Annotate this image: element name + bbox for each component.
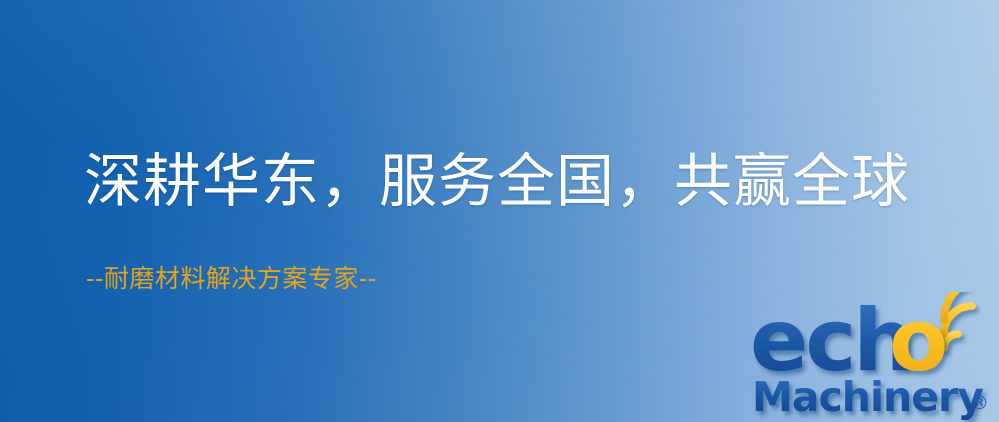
echo-machinery-logo[interactable]: ech o Machinery ® [748,292,999,422]
page-title: 深耕华东，服务全国，共赢全球 [84,152,910,210]
signal-arcs-icon [944,292,986,348]
page-subtitle: --耐磨材料解决方案专家-- [86,266,377,291]
registered-trademark-icon: ® [970,392,989,414]
hero-banner: 深耕华东，服务全国，共赢全球 --耐磨材料解决方案专家-- [0,0,999,422]
logo-tagline: Machinery [752,373,983,421]
